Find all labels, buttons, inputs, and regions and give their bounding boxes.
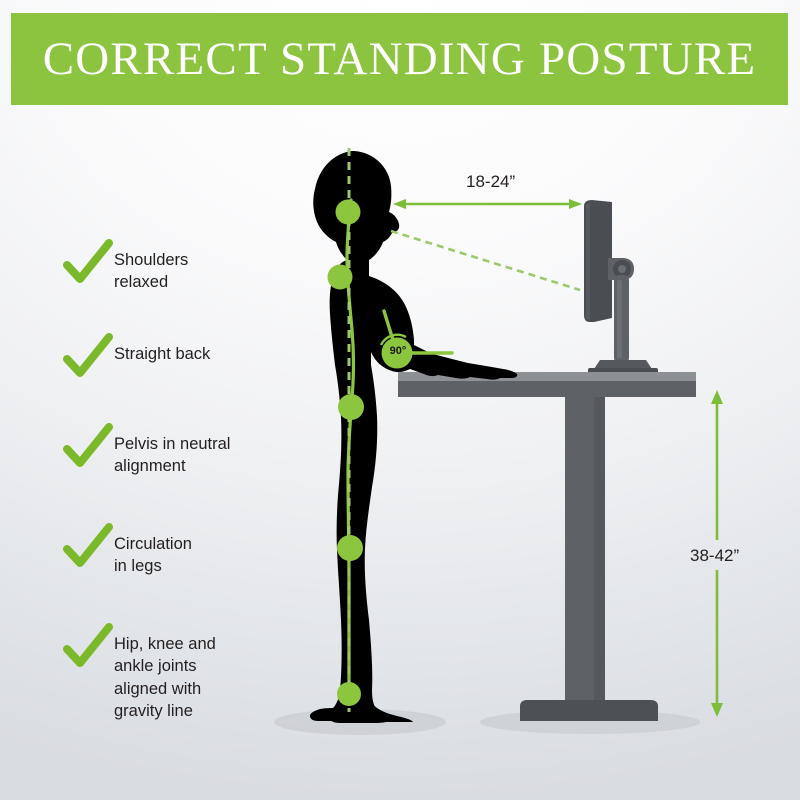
knee-joint bbox=[337, 535, 363, 561]
monitor-side-view bbox=[584, 200, 658, 375]
standing-person-silhouette bbox=[310, 148, 517, 723]
checklist-text-line: alignment bbox=[114, 457, 186, 475]
checklist-text-line: Straight back bbox=[114, 345, 210, 363]
checklist-text-line: Circulation bbox=[114, 535, 192, 553]
viewing-distance-dimension bbox=[393, 199, 582, 209]
checklist-item-joints-gravity: Hip, knee and ankle joints aligned with … bbox=[62, 627, 216, 722]
monitor-bezel-edge bbox=[586, 203, 590, 320]
viewing-distance-arrow-right bbox=[569, 199, 582, 209]
checklist-text-line: gravity line bbox=[114, 702, 193, 720]
checklist-item-shoulders-relaxed: Shoulders relaxed bbox=[62, 243, 188, 294]
desk-height-arrow-top bbox=[711, 390, 723, 404]
monitor-stand-arm-highlight bbox=[617, 280, 622, 358]
viewing-distance-label: 18-24” bbox=[466, 172, 515, 192]
shoulder-joint bbox=[328, 265, 353, 290]
sight-line bbox=[391, 231, 580, 290]
elbow-angle-label: 90° bbox=[386, 345, 410, 357]
check-icon bbox=[62, 523, 114, 569]
desk-column-shade bbox=[594, 397, 605, 709]
check-icon bbox=[62, 623, 114, 669]
standing-desk bbox=[398, 372, 696, 721]
checklist-text-line: Shoulders bbox=[114, 251, 188, 269]
check-icon bbox=[62, 239, 114, 285]
checklist-text-line: Hip, knee and bbox=[114, 635, 216, 653]
checklist-text-line: in legs bbox=[114, 557, 162, 575]
checklist-text-line: ankle joints bbox=[114, 657, 197, 675]
person-rear-foot bbox=[310, 708, 341, 721]
check-icon bbox=[62, 333, 114, 379]
checklist-item-circulation-legs: Circulation in legs bbox=[62, 527, 192, 578]
checklist-text-line: Pelvis in neutral bbox=[114, 435, 230, 453]
checklist-text-line: aligned with bbox=[114, 680, 201, 698]
desk-foot bbox=[520, 700, 658, 721]
desk-apron bbox=[398, 381, 696, 397]
check-icon bbox=[62, 423, 114, 469]
checklist-item-straight-back: Straight back bbox=[62, 337, 210, 379]
desk-height-label: 38-42” bbox=[690, 546, 739, 566]
hip-joint bbox=[338, 394, 364, 420]
head-joint bbox=[336, 200, 361, 225]
monitor-pivot-joint-inner bbox=[618, 265, 626, 273]
viewing-distance-arrow-left bbox=[393, 199, 406, 209]
infographic-canvas: CORRECT STANDING POSTURE bbox=[0, 0, 800, 800]
checklist-item-pelvis-neutral: Pelvis in neutral alignment bbox=[62, 427, 230, 478]
checklist-text-line: relaxed bbox=[114, 273, 168, 291]
person-body bbox=[313, 151, 517, 723]
ankle-joint bbox=[337, 682, 361, 706]
desk-height-arrow-bottom bbox=[711, 703, 723, 717]
